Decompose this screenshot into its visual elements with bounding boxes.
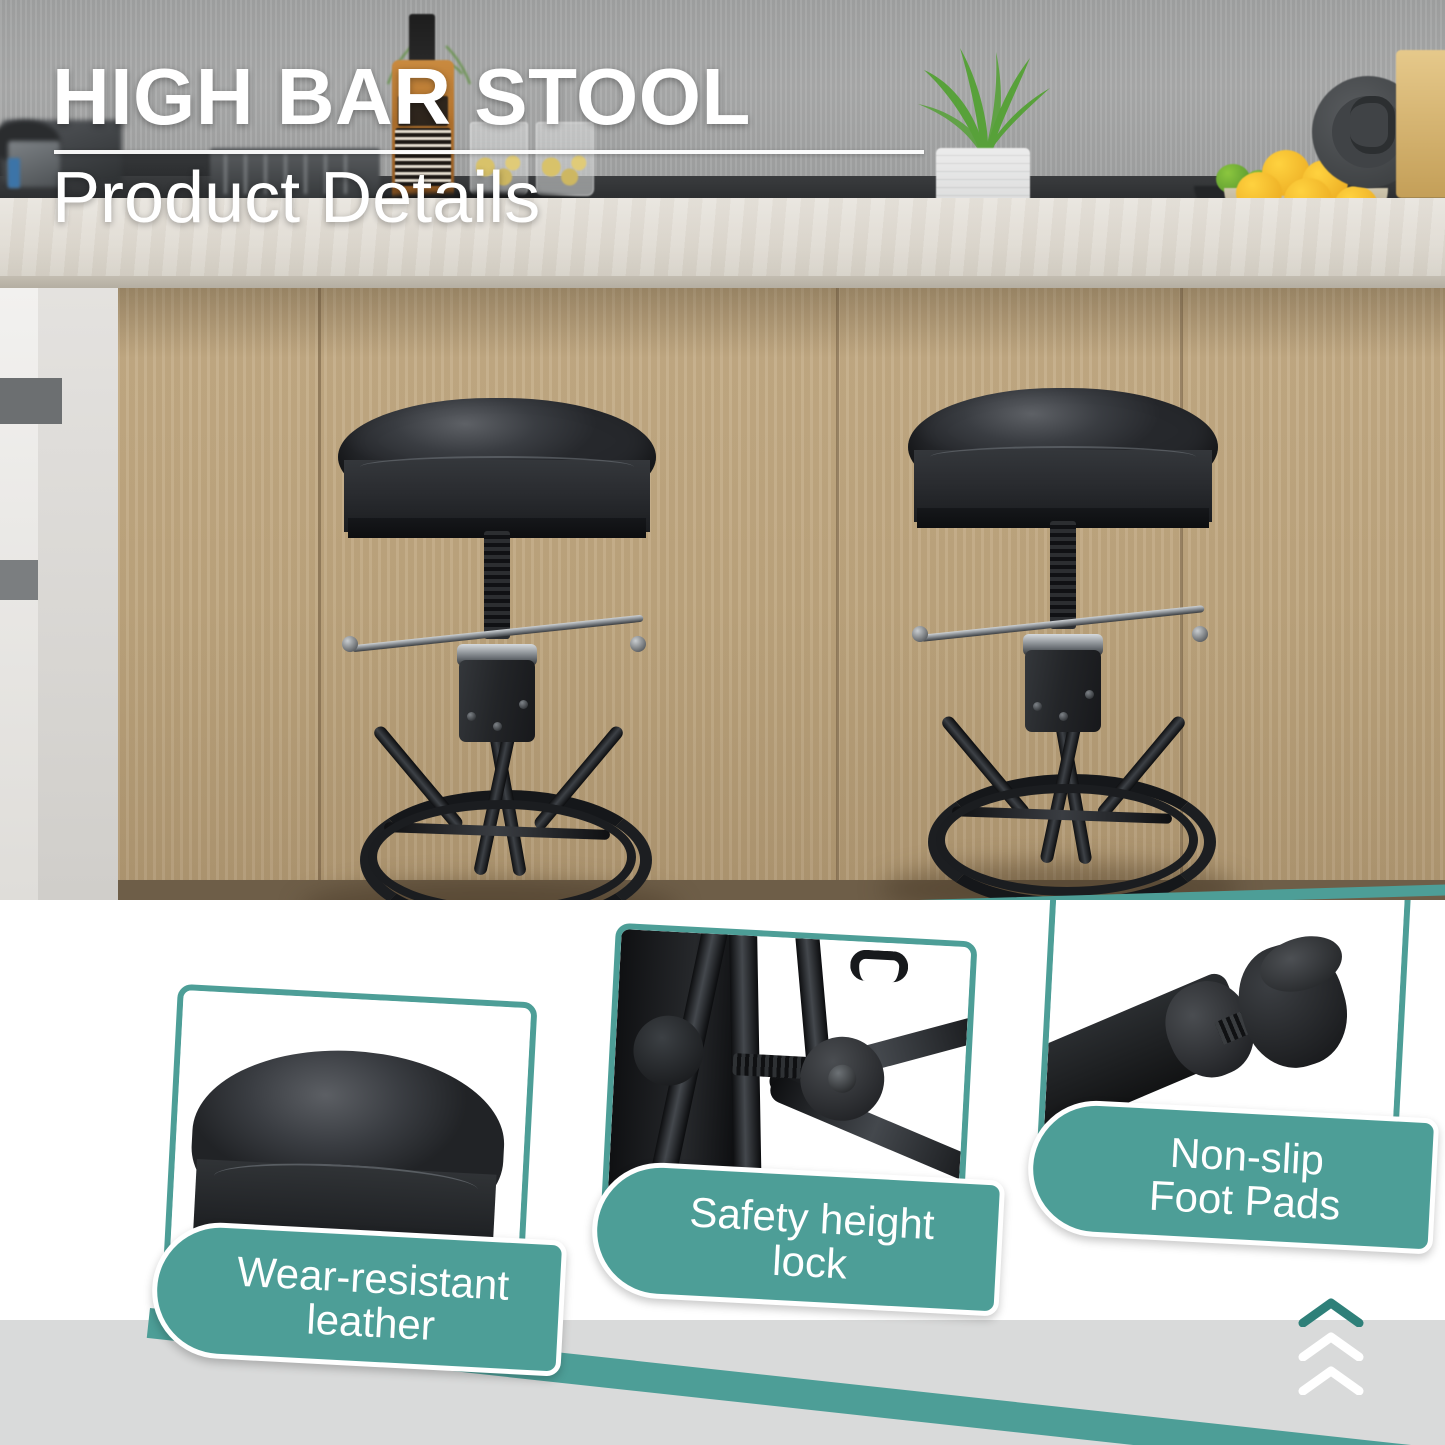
stool-2-stitching — [930, 446, 1197, 468]
feature-caption-non-slip-foot-pads: Non-slip Foot Pads — [1025, 1097, 1440, 1254]
page-title: HIGH BAR STOOL — [52, 58, 1052, 136]
left-wall-panel-1 — [0, 378, 62, 424]
appliance-accent — [8, 158, 20, 188]
stool-1-handle-knob-right — [630, 636, 646, 652]
frying-pan-handle — [1350, 96, 1395, 154]
stool-1-threaded-post — [484, 531, 510, 639]
cabinet-seam-1 — [318, 288, 321, 910]
caption-3-line2: Foot Pads — [1148, 1174, 1341, 1228]
page-title-block: HIGH BAR STOOL Product Details — [52, 58, 1052, 234]
stool-2-hub — [1025, 650, 1101, 732]
title-divider — [54, 150, 924, 154]
chevron-up-icon-1 — [1297, 1297, 1365, 1327]
feature-caption-safety-height-lock: Safety height lock — [589, 1159, 1006, 1316]
scroll-indicator[interactable] — [1281, 1297, 1381, 1417]
features-section: Wear-resistant leather — [0, 900, 1445, 1445]
cabinet-seam-2 — [836, 288, 839, 910]
stool-2-footring-inner — [936, 784, 1198, 896]
stool-2-handle-knob-right — [1192, 626, 1208, 642]
feature-caption-wear-resistant-leather: Wear-resistant leather — [149, 1219, 568, 1376]
product-detail-page: Wear-resistant leather — [0, 0, 1445, 1445]
cutting-board — [1396, 50, 1445, 198]
stool-1-handle-knob-left — [342, 636, 358, 652]
stool-2 — [908, 388, 1218, 908]
stool-2-handle-knob-left — [912, 626, 928, 642]
stool-1-hub — [459, 660, 535, 742]
page-subtitle: Product Details — [52, 162, 1052, 234]
hook-bracket — [849, 949, 909, 983]
cabinet-shadow — [0, 288, 1445, 358]
left-wall-panel-2 — [0, 560, 38, 600]
wood-cabinet — [0, 288, 1445, 910]
stool-1 — [338, 398, 656, 928]
stool-1-footring-inner — [368, 800, 636, 914]
chevron-up-icon-2 — [1297, 1331, 1365, 1361]
stool-2-threaded-post — [1050, 521, 1076, 629]
chevron-up-icon-3 — [1297, 1365, 1365, 1395]
stool-1-stitching — [360, 456, 633, 478]
